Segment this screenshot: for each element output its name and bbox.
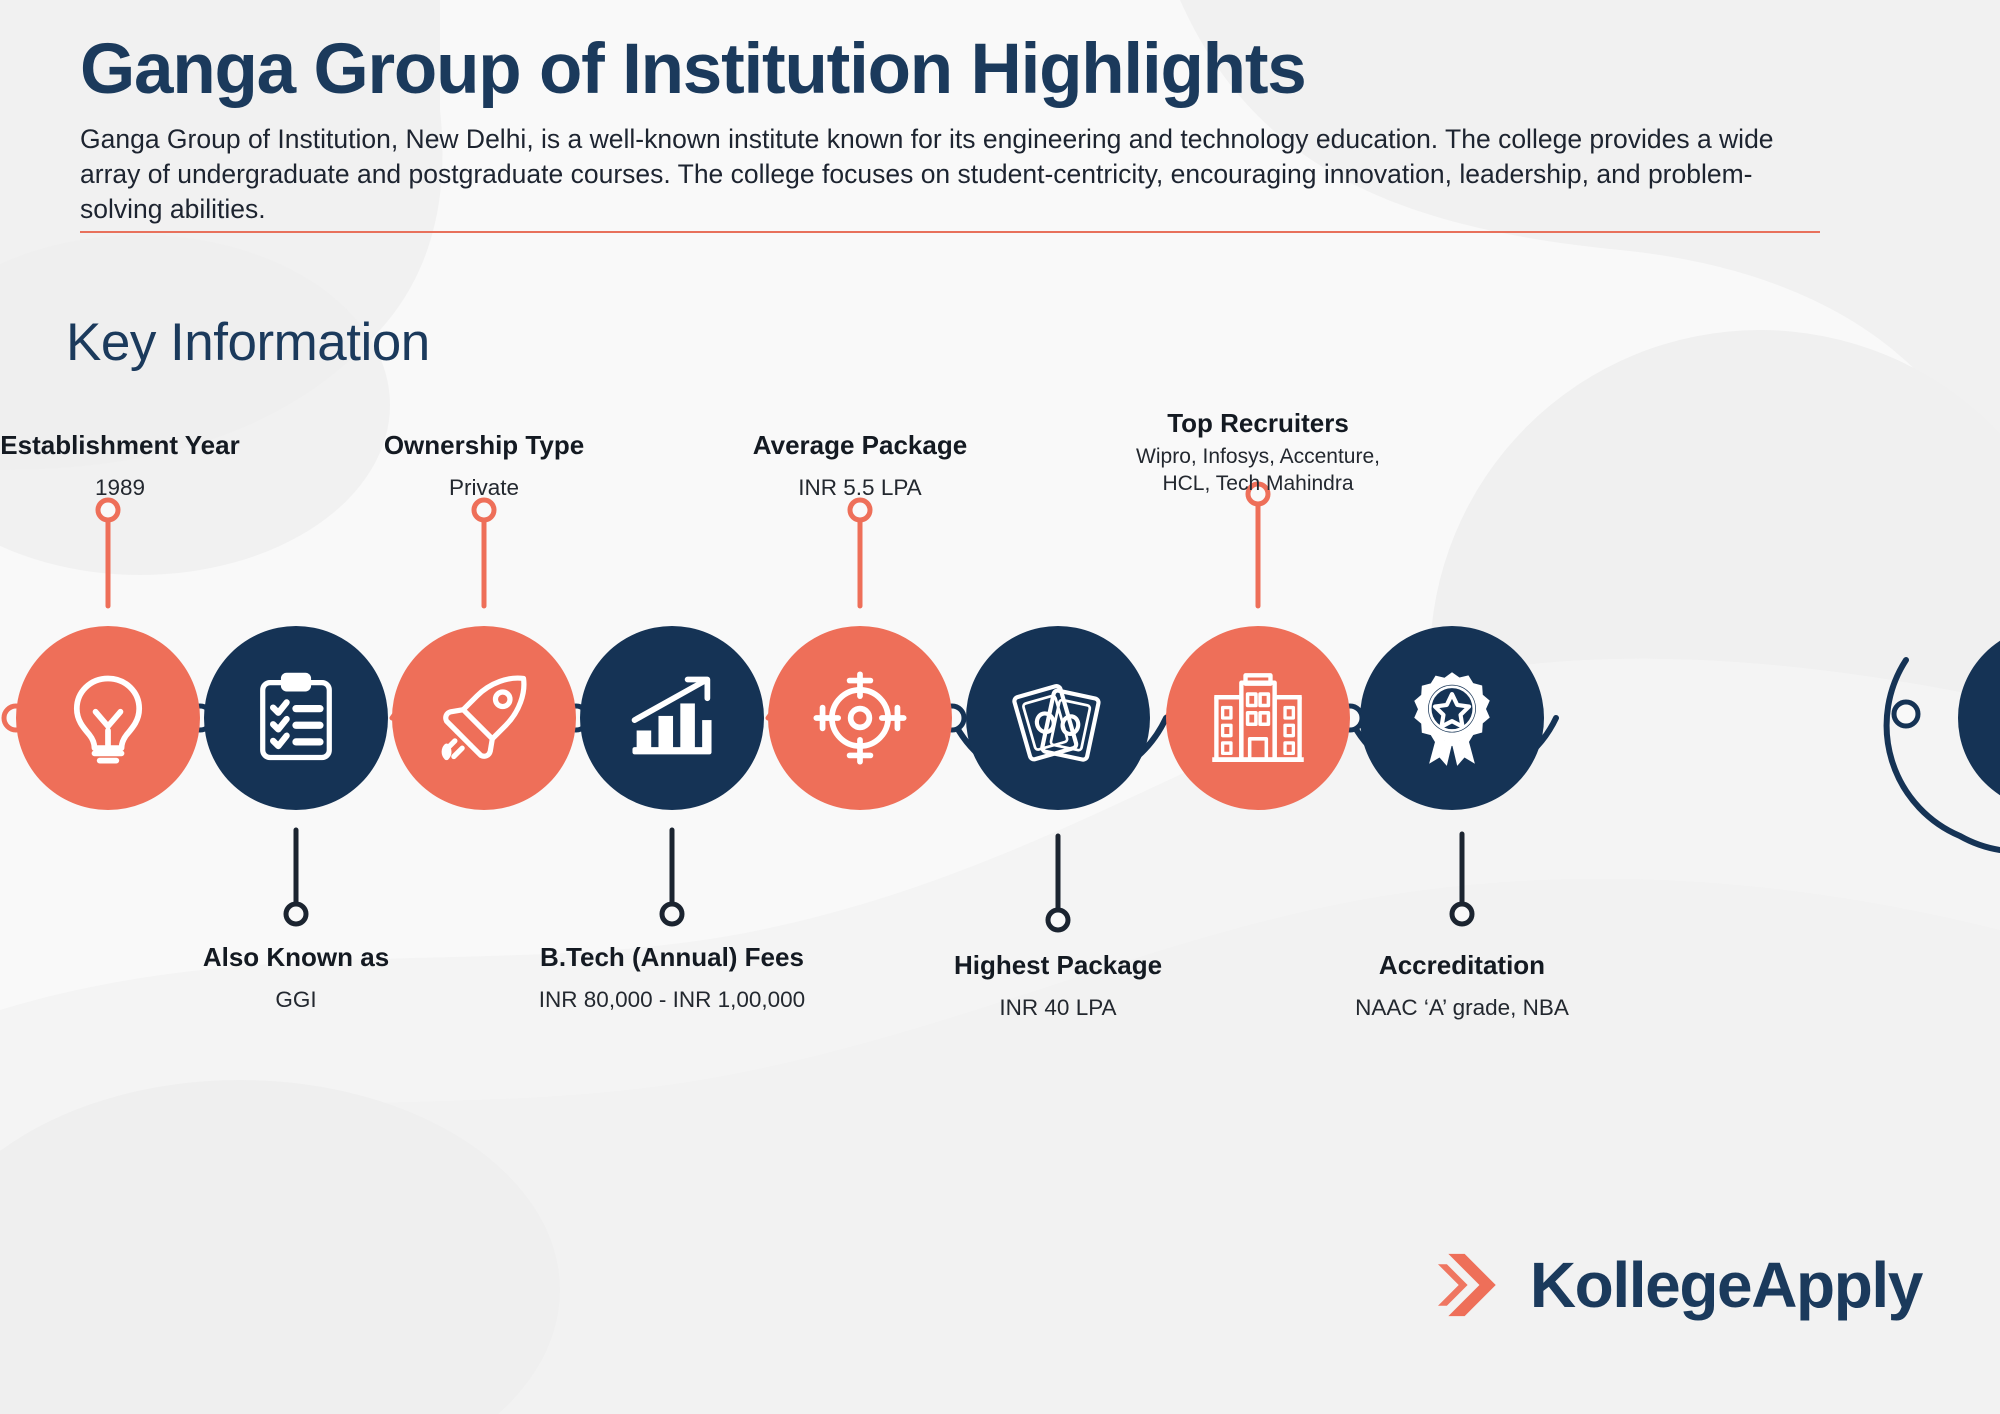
- label-also-known-as: Also Known as GGI: [136, 942, 456, 1014]
- growth-bar-chart-icon: [620, 666, 724, 770]
- label-highest-package: Highest Package INR 40 LPA: [898, 950, 1218, 1022]
- label-title: Ownership Type: [324, 430, 644, 461]
- header: Ganga Group of Institution Highlights Ga…: [80, 30, 1910, 233]
- endpoint-navy-9-left: [1894, 702, 1918, 726]
- banknotes-icon: [1006, 666, 1110, 770]
- label-title: Highest Package: [898, 950, 1218, 981]
- label-title: Also Known as: [136, 942, 456, 973]
- label-value: 1989: [0, 473, 280, 502]
- node-circle-establishment-year[interactable]: [16, 626, 200, 810]
- target-icon: [808, 666, 912, 770]
- brand-name: KollegeApply: [1530, 1253, 1922, 1317]
- node-circle-top-recruiters[interactable]: [1166, 626, 1350, 810]
- label-value: INR 40 LPA: [898, 993, 1218, 1022]
- label-title: Accreditation: [1302, 950, 1622, 981]
- label-value: NAAC ‘A’ grade, NBA: [1302, 993, 1622, 1022]
- stem-dot-navy-6: [1048, 910, 1068, 930]
- award-rosette-icon: [1400, 666, 1504, 770]
- label-ownership-type: Ownership Type Private: [324, 430, 644, 502]
- stem-dot-navy-8: [1452, 904, 1472, 924]
- label-average-package: Average Package INR 5.5 LPA: [700, 430, 1020, 502]
- brand-logo[interactable]: KollegeApply: [1438, 1248, 1922, 1322]
- label-title: B.Tech (Annual) Fees: [512, 942, 832, 973]
- label-top-recruiters: Top Recruiters Wipro, Infosys, Accenture…: [1098, 408, 1418, 498]
- node-circle-also-known-as[interactable]: [204, 626, 388, 810]
- node-circle-highest-package[interactable]: [966, 626, 1150, 810]
- node-circle-accreditation[interactable]: [1360, 626, 1544, 810]
- label-btech-fees: B.Tech (Annual) Fees INR 80,000 - INR 1,…: [512, 942, 832, 1014]
- node-circle-btech-fees[interactable]: [580, 626, 764, 810]
- stem-dot-coral-1: [98, 500, 118, 520]
- label-title: Top Recruiters: [1098, 408, 1418, 439]
- label-value: INR 5.5 LPA: [700, 473, 1020, 502]
- label-value: GGI: [136, 985, 456, 1014]
- stem-dot-navy-4: [662, 904, 682, 924]
- stem-dot-navy-2: [286, 904, 306, 924]
- infographic-canvas: Ganga Group of Institution Highlights Ga…: [0, 0, 2000, 1414]
- node-circle-average-package[interactable]: [768, 626, 952, 810]
- rocket-icon: [432, 666, 536, 770]
- node-circle-partial-right: [1958, 626, 2000, 810]
- label-value: Private: [324, 473, 644, 502]
- label-value: Wipro, Infosys, Accenture, HCL, Tech Mah…: [1098, 443, 1418, 498]
- label-title: Average Package: [700, 430, 1020, 461]
- stem-dot-coral-3: [474, 500, 494, 520]
- node-circle-ownership-type[interactable]: [392, 626, 576, 810]
- double-chevron-icon: [1438, 1248, 1512, 1322]
- label-value: INR 80,000 - INR 1,00,000: [512, 985, 832, 1014]
- label-title: Establishment Year: [0, 430, 280, 461]
- section-title-key-information: Key Information: [66, 312, 430, 373]
- intro-paragraph: Ganga Group of Institution, New Delhi, i…: [80, 122, 1820, 228]
- lightbulb-icon: [56, 666, 160, 770]
- header-divider: [80, 231, 1820, 233]
- page-title: Ganga Group of Institution Highlights: [80, 30, 1910, 110]
- label-accreditation: Accreditation NAAC ‘A’ grade, NBA: [1302, 950, 1622, 1022]
- label-establishment-year: Establishment Year 1989: [0, 430, 280, 502]
- clipboard-checklist-icon: [244, 666, 348, 770]
- stem-dot-coral-5: [850, 500, 870, 520]
- building-icon: [1206, 666, 1310, 770]
